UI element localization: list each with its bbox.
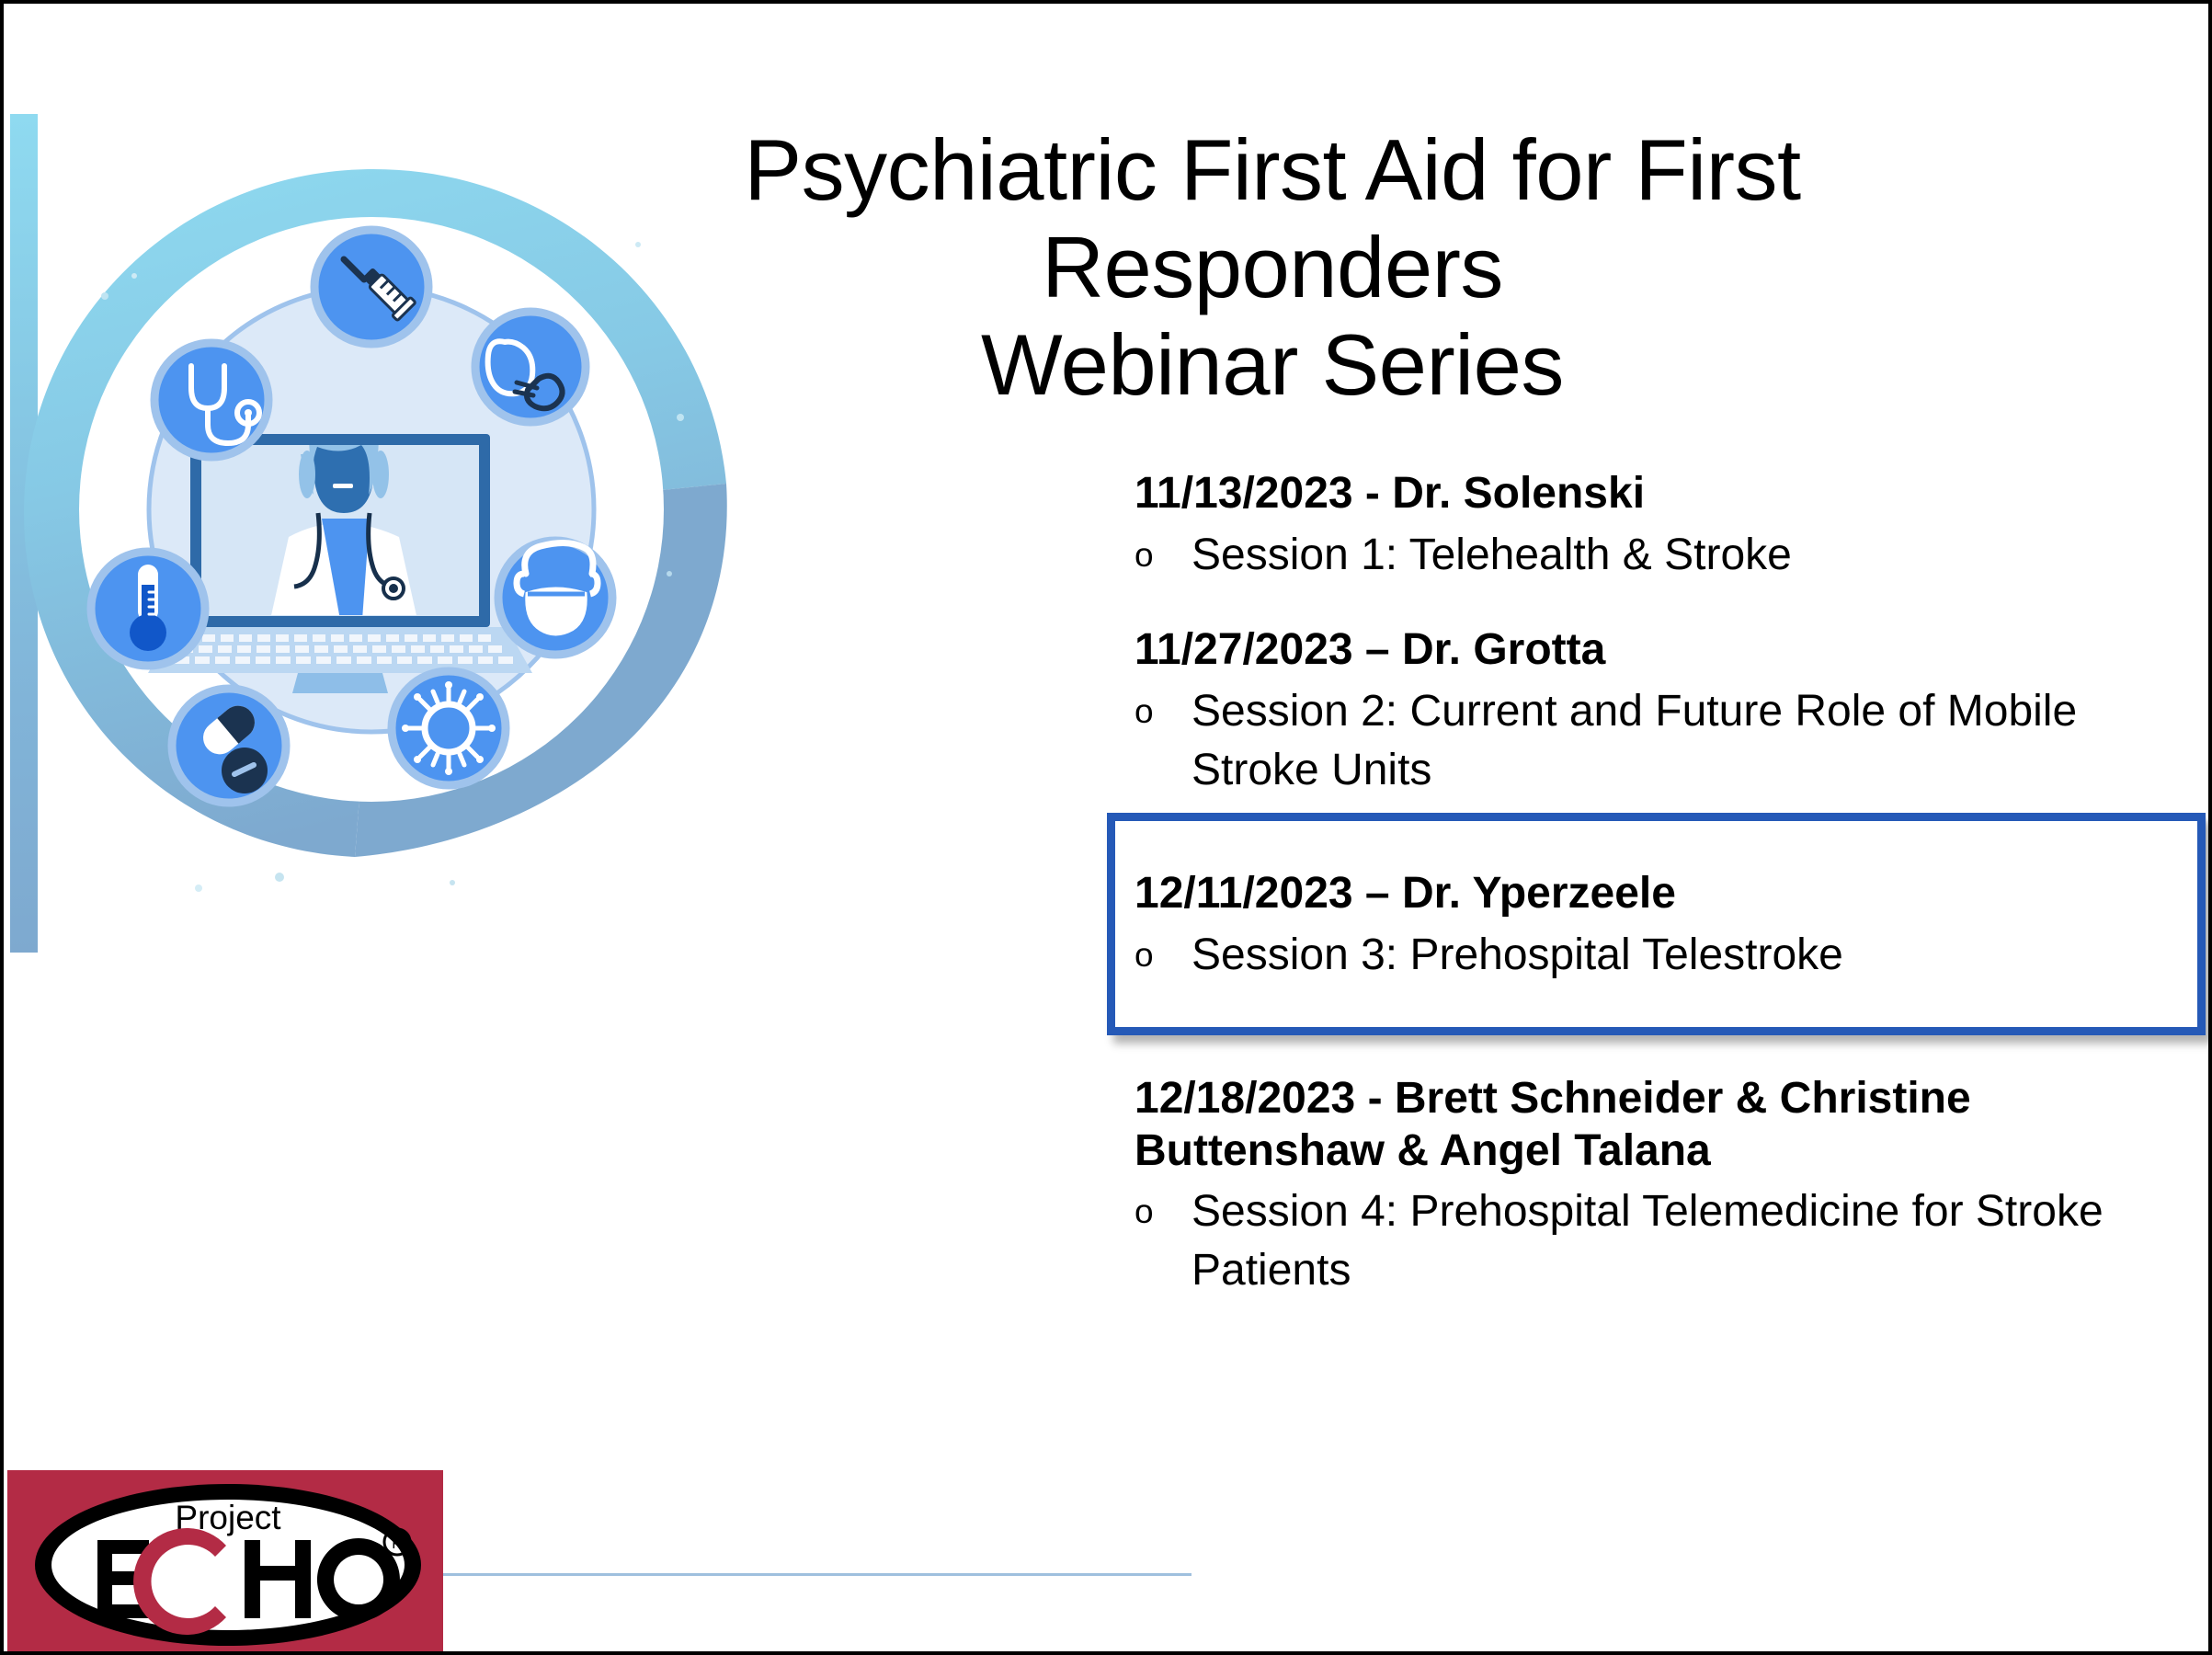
- session-date-speaker: 12/18/2023 - Brett Schneider & Christine…: [1135, 1073, 2192, 1177]
- bullet-circle-icon: o: [1135, 682, 1192, 734]
- session-date-speaker: 11/27/2023 – Dr. Grotta: [1135, 624, 2192, 677]
- session-row: o Session 4: Prehospital Telemedicine fo…: [1135, 1182, 2192, 1300]
- page-title: Psychiatric First Aid for First Responde…: [647, 121, 1898, 415]
- session-row: o Session 2: Current and Future Role of …: [1135, 682, 2192, 800]
- session-title: Session 3: Prehospital Telestroke: [1192, 926, 2192, 985]
- session-list-last: 12/18/2023 - Brett Schneider & Christine…: [1135, 1073, 2192, 1300]
- session-title: Session 1: Telehealth & Stroke: [1192, 526, 2192, 585]
- session-title: Session 2: Current and Future Role of Mo…: [1192, 682, 2192, 800]
- list-item-highlighted: 12/11/2023 – Dr. Yperzeele o Session 3: …: [1135, 868, 2192, 984]
- session-list: 11/13/2023 - Dr. Solenski o Session 1: T…: [1135, 468, 2192, 800]
- session-title: Session 4: Prehospital Telemedicine for …: [1192, 1182, 2192, 1300]
- bullet-circle-icon: o: [1135, 526, 1192, 577]
- syringe-icon: [314, 230, 428, 344]
- title-line-1: Psychiatric First Aid for First Responde…: [647, 121, 1898, 316]
- thermometer-icon: [91, 552, 205, 666]
- bullet-circle-icon: o: [1135, 1182, 1192, 1234]
- bullet-circle-icon: o: [1135, 926, 1192, 977]
- footer-divider: [443, 1573, 1192, 1576]
- pills-icon: [172, 689, 286, 803]
- project-echo-logo: Project R: [7, 1470, 443, 1655]
- session-row: o Session 1: Telehealth & Stroke: [1135, 526, 2192, 585]
- svg-text:R: R: [392, 1536, 403, 1552]
- list-item: 11/13/2023 - Dr. Solenski o Session 1: T…: [1135, 468, 2192, 584]
- session-date-speaker: 12/11/2023 – Dr. Yperzeele: [1135, 868, 2192, 920]
- session-row: o Session 3: Prehospital Telestroke: [1135, 926, 2192, 985]
- list-item: 11/27/2023 – Dr. Grotta o Session 2: Cur…: [1135, 624, 2192, 799]
- slide-canvas: Psychiatric First Aid for First Responde…: [0, 0, 2212, 1655]
- title-line-2: Webinar Series: [647, 316, 1898, 414]
- session-date-speaker: 11/13/2023 - Dr. Solenski: [1135, 468, 2192, 520]
- lungs-cough-icon: [475, 312, 586, 422]
- virus-icon: [392, 671, 506, 785]
- list-item: 12/18/2023 - Brett Schneider & Christine…: [1135, 1073, 2192, 1300]
- face-mask-icon: [498, 541, 612, 655]
- stethoscope-icon: [154, 343, 268, 457]
